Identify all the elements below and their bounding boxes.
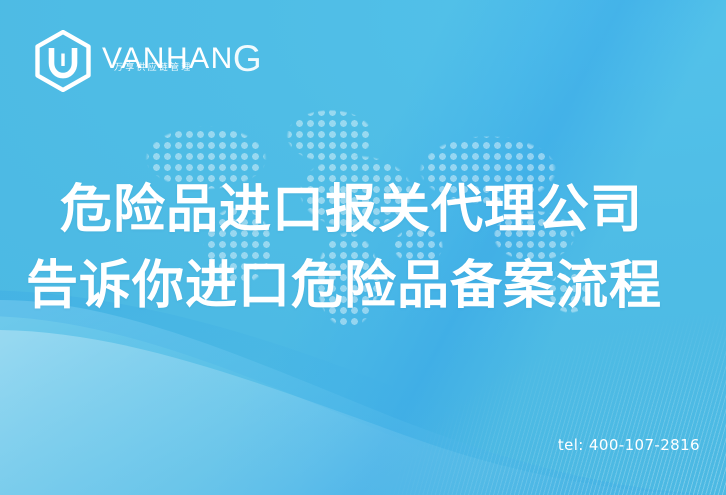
promotional-banner: VANHANG 万享供应链管理 危险品进口报关代理公司 告诉你进口危险品备案流程… [0,0,726,495]
headline-line-2: 告诉你进口危险品备案流程 [0,248,726,324]
logo-wordmark-block: VANHANG 万享供应链管理 [102,41,263,81]
headline-block: 危险品进口报关代理公司 告诉你进口危险品备案流程 [0,172,726,324]
hexagon-u-mark-icon [34,30,92,92]
logo-subtext: 万享供应链管理 [114,63,192,73]
logo-wordmark-last-letter: G [233,38,263,79]
contact-phone: tel: 400-107-2816 [558,436,700,454]
company-logo[interactable]: VANHANG 万享供应链管理 [34,30,263,92]
headline-line-1: 危险品进口报关代理公司 [0,172,726,248]
